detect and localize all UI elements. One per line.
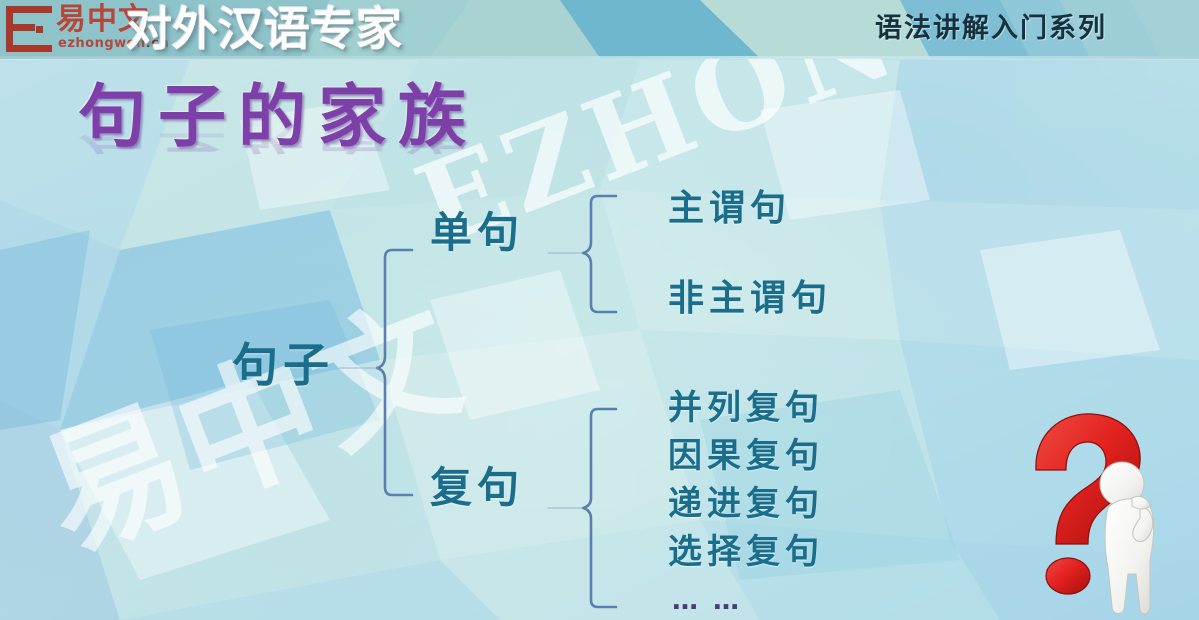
tree-node-complex-sentence: 复句 bbox=[430, 462, 524, 514]
tree-leaf-alternative: 选择复句 bbox=[668, 530, 824, 574]
tree-leaf-ellipsis: … … bbox=[672, 588, 742, 614]
slide-canvas: EZHONGWEN 易中文 易中文 ezhongwen.cn bbox=[0, 0, 1199, 620]
brand-title: 对外汉语专家 bbox=[126, 1, 402, 57]
header-band: 易中文 ezhongwen.cn 对外汉语专家 语法讲解入门系列 bbox=[0, 0, 1199, 58]
ezhongwen-logo-icon bbox=[6, 6, 52, 52]
tree-node-simple-sentence: 单句 bbox=[430, 207, 524, 259]
page-title: 句子的家族 bbox=[78, 78, 478, 156]
tree-node-root: 句子 bbox=[232, 337, 334, 393]
tree-leaf-progressive: 递进复句 bbox=[668, 482, 824, 526]
header-divider bbox=[0, 56, 1199, 59]
tree-leaf-subject-predicate: 主谓句 bbox=[668, 186, 791, 232]
tree-leaf-coordinate: 并列复句 bbox=[668, 386, 824, 430]
tree-leaf-causal: 因果复句 bbox=[668, 434, 824, 478]
series-title: 语法讲解入门系列 bbox=[875, 10, 1107, 48]
tree-leaf-non-subject-predicate: 非主谓句 bbox=[668, 276, 832, 322]
question-mark-thinking-figure-icon bbox=[1000, 398, 1199, 620]
